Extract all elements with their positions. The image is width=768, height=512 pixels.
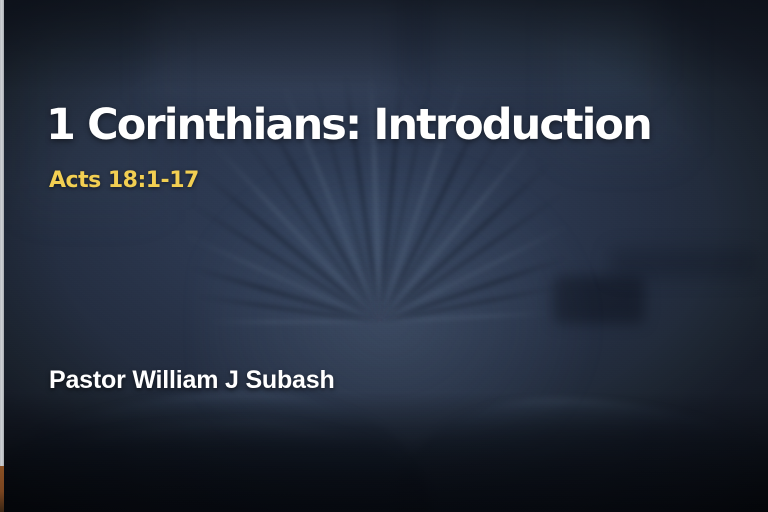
slide-text-block: 1 Corinthians: Introduction Acts 18:1-17… [0,0,768,512]
scripture-reference: Acts 18:1-17 [49,167,199,195]
sermon-title-slide: 1 Corinthians: Introduction Acts 18:1-17… [0,0,768,512]
slide-title: 1 Corinthians: Introduction [46,100,651,150]
speaker-name: Pastor William J Subash [49,365,335,395]
